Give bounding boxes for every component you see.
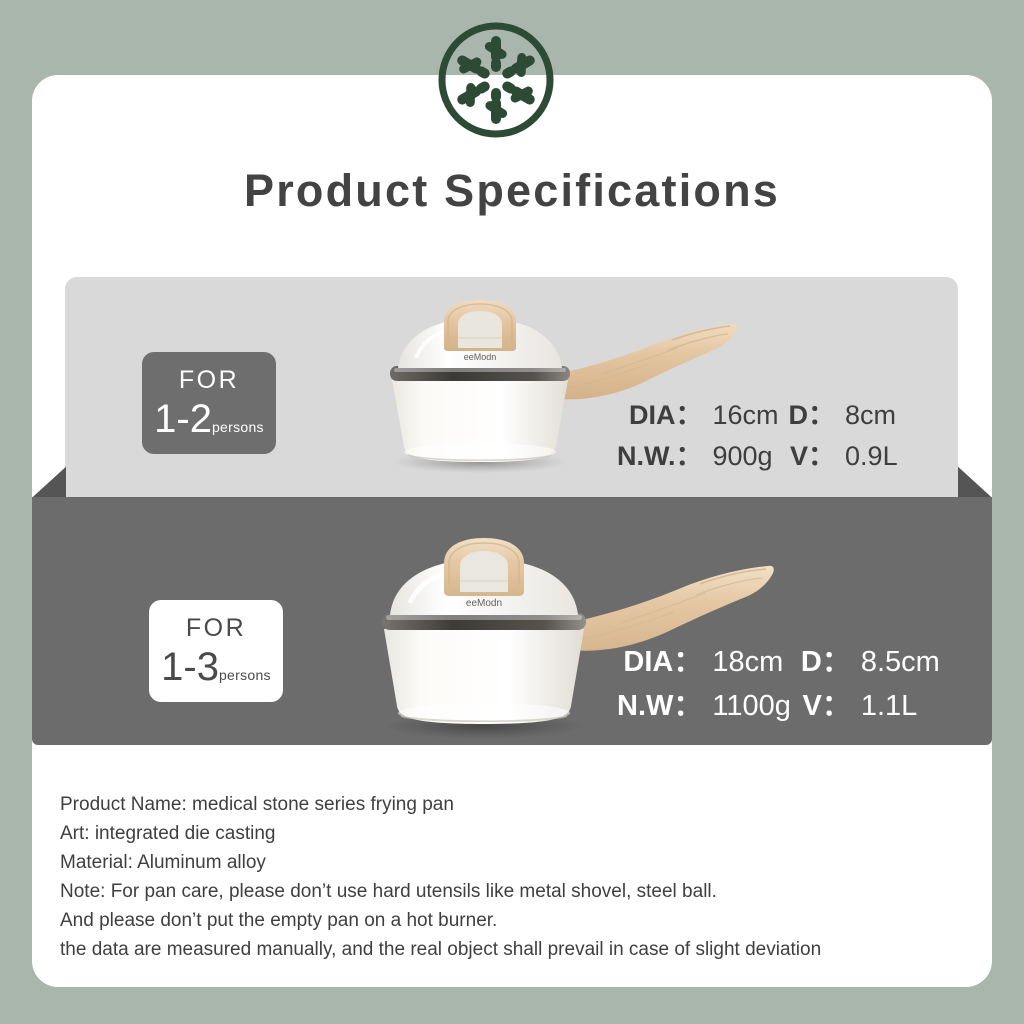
badge-count-number: 1-2 <box>154 399 212 439</box>
badge-count-group: 1-2 persons <box>154 399 264 439</box>
spec-label-nw: N.W： <box>617 682 702 724</box>
description-line: Material: Aluminum alloy <box>60 848 990 877</box>
box-flap-left <box>32 467 66 498</box>
page-title: Product Specifications <box>0 165 1024 217</box>
spec-label-nw: N.W.： <box>617 434 703 473</box>
brand-logo-icon <box>434 18 558 142</box>
spec-value-nw: 1100g <box>712 690 791 723</box>
spec-value-v: 0.9L <box>845 441 898 472</box>
spec-label-v: V： <box>801 682 851 724</box>
spec-value-d: 8cm <box>845 400 898 431</box>
spec-value-dia: 16cm <box>713 400 779 431</box>
capacity-badge-1-2-persons: FOR 1-2 persons <box>142 352 276 454</box>
capacity-badge-1-3-persons: FOR 1-3 persons <box>149 600 283 702</box>
spec-value-nw: 900g <box>713 441 779 472</box>
spec-label-v: V： <box>789 434 836 473</box>
spec-value-dia: 18cm <box>712 646 791 679</box>
description-line: Art: integrated die casting <box>60 819 990 848</box>
description-line: the data are measured manually, and the … <box>60 935 990 964</box>
badge-count-group: 1-3 persons <box>161 647 271 687</box>
badge-for-label: FOR <box>186 616 246 641</box>
spec-list-item-2: DIA： 18cm D： 8.5cm N.W： 1100g V： 1.1L <box>617 638 940 724</box>
badge-persons-label: persons <box>219 668 271 682</box>
spec-label-dia: DIA： <box>617 393 703 432</box>
box-flap-right <box>958 467 992 498</box>
badge-count-number: 1-3 <box>161 647 219 687</box>
spec-value-d: 8.5cm <box>861 646 940 679</box>
description-line: And please don’t put the empty pan on a … <box>60 906 990 935</box>
spec-value-v: 1.1L <box>861 690 940 723</box>
description-line: Note: For pan care, please don’t use har… <box>60 877 990 906</box>
spec-label-dia: DIA： <box>617 638 702 680</box>
svg-text:eeModn: eeModn <box>466 598 502 609</box>
product-description: Product Name: medical stone series fryin… <box>60 790 990 964</box>
description-line: Product Name: medical stone series fryin… <box>60 790 990 819</box>
badge-for-label: FOR <box>179 368 239 393</box>
badge-persons-label: persons <box>212 420 264 434</box>
spec-label-d: D： <box>789 393 836 432</box>
product-showcase: eeModn <box>32 200 992 750</box>
spec-list-item-1: DIA： 16cm D： 8cm N.W.： 900g V： 0.9L <box>617 393 898 473</box>
svg-text:eeModn: eeModn <box>464 352 497 362</box>
spec-label-d: D： <box>801 638 851 680</box>
